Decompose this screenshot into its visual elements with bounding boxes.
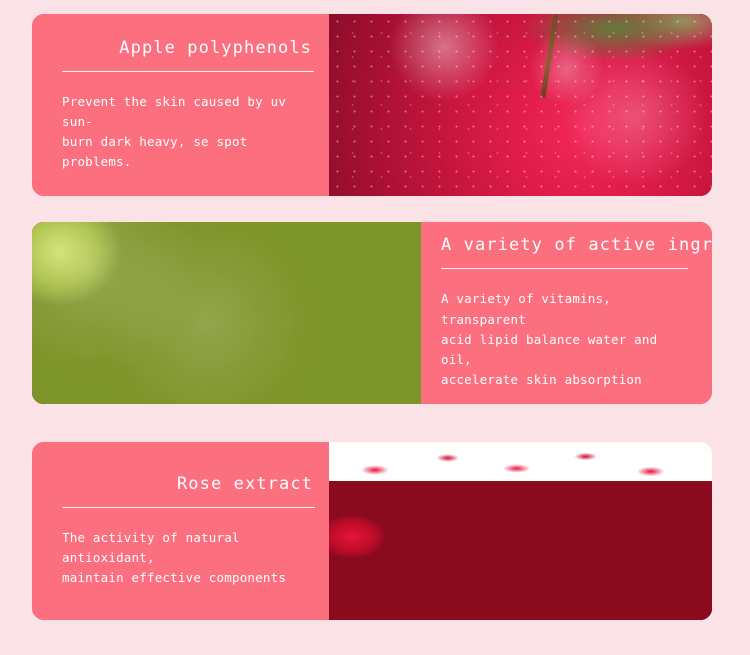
card-body-line: burn dark heavy, se spot problems. [62,132,314,173]
card-body: A variety of vitamins, transparent acid … [441,289,688,390]
card-body-line: A variety of vitamins, transparent [441,289,688,330]
card-body-line: accelerate skin absorption [441,370,688,390]
card-body: Prevent the skin caused by uv sun- burn … [62,92,314,173]
card-text-panel: Apple polyphenols Prevent the skin cause… [32,14,329,196]
fruits-photo-art [32,222,421,404]
card-image-rose-petals [329,442,712,620]
title-divider [62,71,314,72]
card-body: The activity of natural antioxidant, mai… [62,528,315,589]
card-body-line: Prevent the skin caused by uv sun- [62,92,314,133]
apple-photo-art [329,14,712,196]
rose-petals-photo-art [329,442,712,620]
feature-card-apple-polyphenols: Apple polyphenols Prevent the skin cause… [32,14,712,196]
card-text-panel: A variety of active ingredients A variet… [421,222,712,404]
card-title: A variety of active ingredients [441,235,688,255]
card-title: Rose extract [62,474,315,494]
card-body-line: acid lipid balance water and oil, [441,330,688,371]
card-image-fruits [32,222,421,404]
card-text-panel: Rose extract The activity of natural ant… [32,442,329,620]
feature-card-rose-extract: Rose extract The activity of natural ant… [32,442,712,620]
title-divider [441,268,688,269]
ingredient-feature-page: Apple polyphenols Prevent the skin cause… [0,0,750,655]
apple-stem [541,14,559,97]
card-body-line: The activity of natural antioxidant, [62,528,315,569]
card-body-line: maintain effective components [62,568,315,588]
title-divider [62,507,315,508]
card-title: Apple polyphenols [62,38,314,58]
card-image-apple [329,14,712,196]
feature-card-active-ingredients: A variety of active ingredients A variet… [32,222,712,404]
